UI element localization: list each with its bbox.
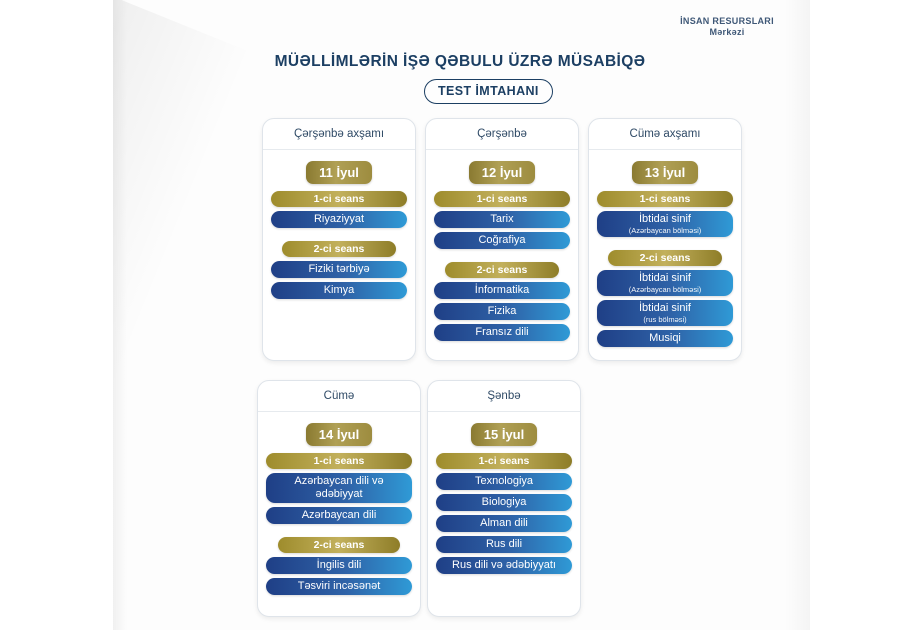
session-label: 1-ci seans (434, 191, 570, 207)
day-card-header: Şənbə (428, 381, 580, 412)
subject-pill: Coğrafiya (434, 232, 570, 249)
subject-pill: İbtidai sinif(rus bölməsi) (597, 300, 733, 326)
logo-line-2: Mərkəzi (668, 27, 786, 38)
subject-sublabel: (Azərbaycan bölməsi) (629, 285, 702, 294)
subject-pill: Azərbaycan dili (266, 507, 412, 524)
day-card-body: 11 İyul1-ci seansRiyaziyyat2-ci seansFiz… (263, 150, 415, 311)
subject-name: Rus dili və ədəbiyyatı (452, 559, 556, 572)
day-card: Cümə14 İyul1-ci seansAzərbaycan dili və … (257, 380, 421, 617)
subject-name: Fransız dili (475, 326, 528, 339)
session-spacer (434, 253, 570, 262)
session-spacer (597, 241, 733, 250)
subject-name: Alman dili (480, 517, 528, 530)
session-label: 2-ci seans (282, 241, 396, 257)
day-card: Cümə axşamı13 İyul1-ci seansİbtidai sini… (588, 118, 742, 361)
day-card-body: 14 İyul1-ci seansAzərbaycan dili və ədəb… (258, 412, 420, 607)
subject-name: Texnologiya (475, 475, 533, 488)
date-pill: 13 İyul (632, 161, 698, 184)
day-card: Çərşənbə12 İyul1-ci seansTarixCoğrafiya2… (425, 118, 579, 361)
date-pill: 15 İyul (471, 423, 537, 446)
subject-pill: Tarix (434, 211, 570, 228)
subject-name: İngilis dili (317, 559, 362, 572)
logo-line-1: İNSAN RESURSLARI (668, 16, 786, 27)
day-card-body: 12 İyul1-ci seansTarixCoğrafiya2-ci sean… (426, 150, 578, 353)
panel-left-shadow (113, 0, 127, 630)
subject-pill: Təsviri incəsənət (266, 578, 412, 595)
subject-name: Coğrafiya (478, 234, 525, 247)
subject-pill: Fizika (434, 303, 570, 320)
subject-pill: İnformatika (434, 282, 570, 299)
subject-name: Biologiya (482, 496, 527, 509)
subject-name: Azərbaycan dili və ədəbiyyat (270, 475, 408, 501)
subject-name: Azərbaycan dili (302, 509, 377, 522)
date-pill: 11 İyul (306, 161, 372, 184)
subject-pill: İbtidai sinif(Azərbaycan bölməsi) (597, 211, 733, 237)
date-pill: 14 İyul (306, 423, 372, 446)
poster-canvas: İNSAN RESURSLARI Mərkəzi MÜƏLLİMLƏRİN İŞ… (0, 0, 923, 630)
day-card-body: 15 İyul1-ci seansTexnologiyaBiologiyaAlm… (428, 412, 580, 586)
session-label: 2-ci seans (445, 262, 559, 278)
day-card-header: Cümə (258, 381, 420, 412)
subject-name: Fizika (488, 305, 517, 318)
date-pill: 12 İyul (469, 161, 535, 184)
subject-name: İbtidai sinif (639, 272, 691, 285)
subject-name: İnformatika (475, 284, 529, 297)
subject-name: Təsviri incəsənət (298, 580, 381, 593)
subject-name: Riyaziyyat (314, 213, 364, 226)
subject-pill: Musiqi (597, 330, 733, 347)
subject-sublabel: (rus bölməsi) (643, 315, 686, 324)
session-label: 1-ci seans (597, 191, 733, 207)
session-label: 2-ci seans (278, 537, 401, 553)
subject-pill: Rus dili (436, 536, 572, 553)
subject-name: İbtidai sinif (639, 302, 691, 315)
day-card-header: Çərşənbə (426, 119, 578, 150)
exam-type-badge: TEST İMTAHANI (424, 79, 553, 104)
subject-pill: İngilis dili (266, 557, 412, 574)
subject-pill: Kimya (271, 282, 407, 299)
session-label: 2-ci seans (608, 250, 722, 266)
subject-pill: Biologiya (436, 494, 572, 511)
subject-name: İbtidai sinif (639, 213, 691, 226)
day-card-header: Çərşənbə axşamı (263, 119, 415, 150)
session-spacer (266, 528, 412, 537)
day-card-header: Cümə axşamı (589, 119, 741, 150)
subject-name: Tarix (490, 213, 513, 226)
subject-pill: Riyaziyyat (271, 211, 407, 228)
session-label: 1-ci seans (436, 453, 572, 469)
subject-name: Musiqi (649, 332, 681, 345)
subject-pill: Fransız dili (434, 324, 570, 341)
session-label: 1-ci seans (271, 191, 407, 207)
panel-right-shadow (784, 0, 810, 630)
subject-name: Fiziki tərbiyə (308, 263, 369, 276)
subject-name: Rus dili (486, 538, 522, 551)
subject-pill: Rus dili və ədəbiyyatı (436, 557, 572, 574)
subject-pill: Azərbaycan dili və ədəbiyyat (266, 473, 412, 503)
organization-logo: İNSAN RESURSLARI Mərkəzi (668, 16, 786, 38)
day-card: Çərşənbə axşamı11 İyul1-ci seansRiyaziyy… (262, 118, 416, 361)
session-label: 1-ci seans (266, 453, 412, 469)
page-title: MÜƏLLİMLƏRİN İŞƏ QƏBULU ÜZRƏ MÜSABİQƏ (160, 53, 760, 71)
day-card-body: 13 İyul1-ci seansİbtidai sinif(Azərbayca… (589, 150, 741, 359)
session-spacer (271, 232, 407, 241)
subject-sublabel: (Azərbaycan bölməsi) (629, 226, 702, 235)
subject-name: Kimya (324, 284, 355, 297)
subject-pill: Texnologiya (436, 473, 572, 490)
day-card: Şənbə15 İyul1-ci seansTexnologiyaBiologi… (427, 380, 581, 617)
subject-pill: İbtidai sinif(Azərbaycan bölməsi) (597, 270, 733, 296)
subject-pill: Alman dili (436, 515, 572, 532)
subject-pill: Fiziki tərbiyə (271, 261, 407, 278)
